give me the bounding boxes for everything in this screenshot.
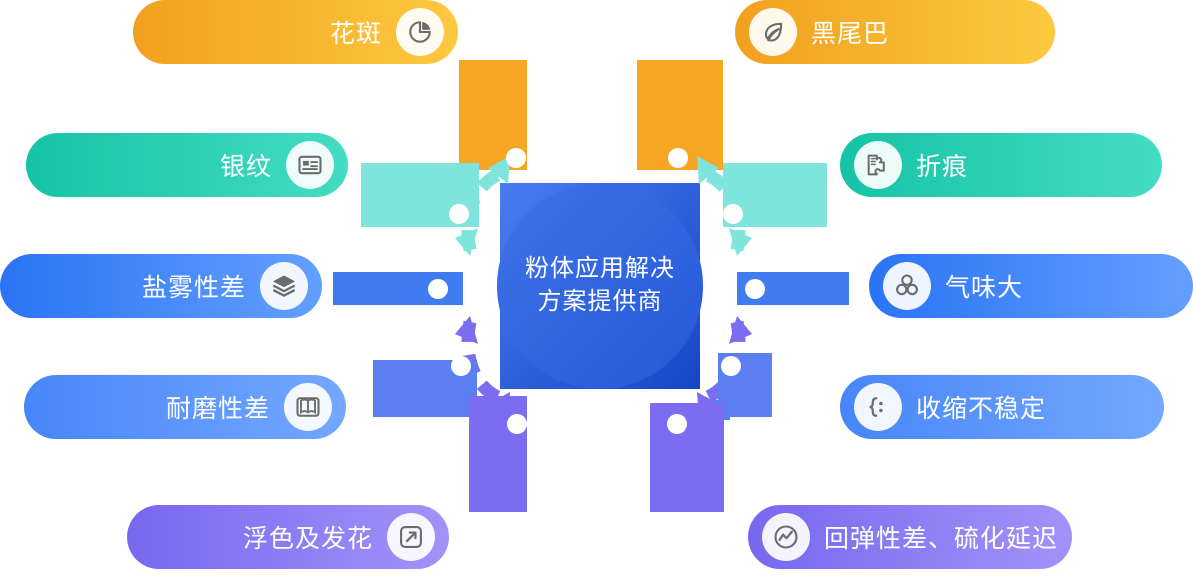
node-dot-2	[668, 148, 688, 168]
node-dot-8	[721, 356, 741, 376]
trend-up-icon	[387, 513, 435, 561]
node-right-4[interactable]: 收缩不稳定	[840, 375, 1164, 439]
node-left-3[interactable]: 盐雾性差	[0, 254, 322, 318]
center-node[interactable]: 粉体应用解决 方案提供商	[500, 183, 700, 389]
node-left-1-label: 花斑	[330, 14, 382, 50]
node-dot-3	[449, 204, 469, 224]
node-right-3[interactable]: 气味大	[869, 254, 1193, 318]
node-right-2-label: 折痕	[916, 147, 968, 183]
node-left-1[interactable]: 花斑	[133, 0, 458, 64]
node-left-5-label: 浮色及发花	[243, 519, 373, 555]
connector-purple-left-block	[469, 396, 527, 512]
node-dot-1	[506, 148, 526, 168]
node-left-2-label: 银纹	[220, 147, 272, 183]
center-label-line1: 粉体应用解决	[525, 253, 675, 286]
node-right-5-label: 回弹性差、硫化延迟	[824, 519, 1058, 555]
node-right-3-label: 气味大	[945, 268, 1023, 304]
node-dot-7	[451, 356, 471, 376]
puzzle-icon	[854, 141, 902, 189]
node-dot-6	[745, 279, 765, 299]
node-left-3-label: 盐雾性差	[142, 268, 246, 304]
chart-line-icon	[762, 513, 810, 561]
diagram-canvas: 粉体应用解决 方案提供商 花斑 银纹 盐雾性差 耐磨性差 浮色及发花	[0, 0, 1193, 577]
braces-icon	[854, 383, 902, 431]
node-right-4-label: 收缩不稳定	[916, 389, 1046, 425]
node-left-5[interactable]: 浮色及发花	[127, 505, 449, 569]
map-icon	[284, 383, 332, 431]
node-left-4[interactable]: 耐磨性差	[24, 375, 346, 439]
node-dot-10	[667, 414, 687, 434]
node-right-1-label: 黑尾巴	[811, 14, 889, 50]
node-right-2[interactable]: 折痕	[840, 133, 1162, 197]
leaf-icon	[749, 8, 797, 56]
node-dot-5	[428, 279, 448, 299]
molecule-icon	[883, 262, 931, 310]
node-dot-9	[507, 414, 527, 434]
node-right-1[interactable]: 黑尾巴	[735, 0, 1055, 64]
pie-chart-icon	[396, 8, 444, 56]
node-left-2[interactable]: 银纹	[26, 133, 348, 197]
node-dot-4	[723, 204, 743, 224]
layers-icon	[260, 262, 308, 310]
node-left-4-label: 耐磨性差	[166, 389, 270, 425]
id-card-icon	[286, 141, 334, 189]
center-label-line2: 方案提供商	[525, 286, 675, 319]
node-right-5[interactable]: 回弹性差、硫化延迟	[748, 505, 1072, 569]
